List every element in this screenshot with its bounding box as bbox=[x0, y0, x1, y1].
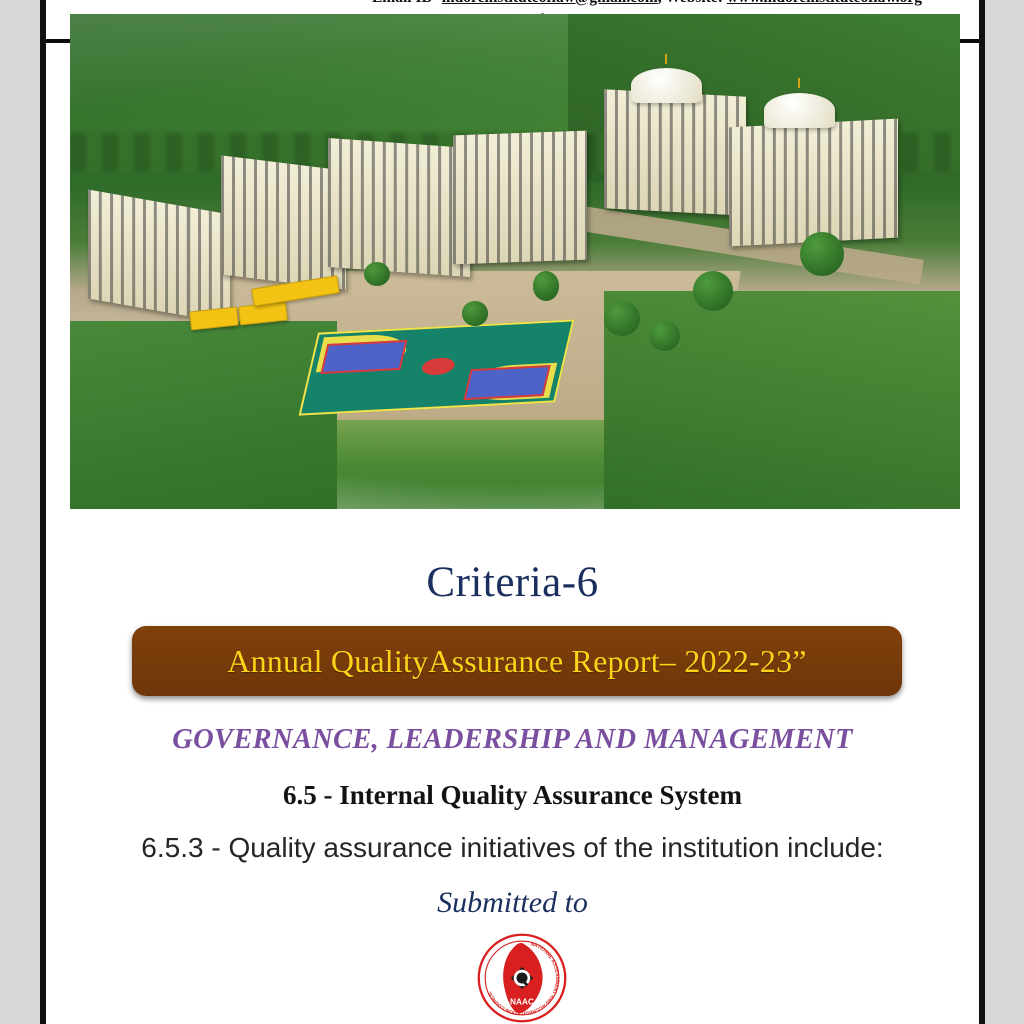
lawn-left bbox=[70, 321, 337, 509]
tree bbox=[462, 301, 489, 326]
court-paint-right bbox=[464, 365, 551, 400]
spire-right bbox=[798, 78, 800, 88]
criteria-title: Criteria-6 bbox=[46, 558, 979, 607]
governance-heading: GOVERNANCE, LEADERSHIP AND MANAGEMENT bbox=[46, 724, 979, 756]
building-domed-left bbox=[604, 89, 746, 215]
building-hostel-left bbox=[88, 190, 230, 324]
building-main-block bbox=[453, 130, 587, 263]
court-center-circle bbox=[420, 357, 457, 376]
tree bbox=[649, 321, 680, 351]
tree bbox=[693, 271, 733, 311]
naac-label: NAAC bbox=[510, 998, 534, 1007]
submitted-to-label: Submitted to bbox=[46, 886, 979, 920]
basketball-court bbox=[299, 319, 575, 415]
naac-logo-icon: NAAC NATIONAL ASSESSMENT AND ACCREDITATI… bbox=[476, 932, 568, 1024]
section-6-5-3-heading: 6.5.3 - Quality assurance initiatives of… bbox=[46, 832, 979, 864]
building-block-three bbox=[328, 138, 470, 277]
email-label: Email ID- bbox=[372, 0, 438, 6]
report-title-banner: Annual QualityAssurance Report– 2022-23” bbox=[132, 626, 902, 696]
building-domed-right bbox=[729, 118, 898, 246]
logo-emblem-icon: INDORE INSTITUTE OF LAW bbox=[66, 0, 316, 10]
email-website-line: Email ID- indoreinstituteoflaw@gmail.com… bbox=[321, 0, 973, 9]
comma-separator: , bbox=[658, 0, 662, 6]
website-value[interactable]: www.indoreinstituteoflaw.org bbox=[727, 0, 922, 6]
spire-left bbox=[665, 54, 667, 64]
photo-canvas bbox=[70, 14, 960, 509]
tree bbox=[604, 301, 640, 336]
court-paint-left bbox=[320, 339, 407, 374]
section-6-5-heading: 6.5 - Internal Quality Assurance System bbox=[46, 780, 979, 811]
dome-left bbox=[631, 68, 702, 103]
dome-right bbox=[764, 93, 835, 128]
campus-aerial-photo bbox=[70, 14, 960, 509]
email-value[interactable]: indoreinstituteoflaw@gmail.com bbox=[442, 0, 658, 6]
website-label: Website: bbox=[665, 0, 723, 6]
document-page: INDORE INSTITUTE OF LAW Email ID- indore… bbox=[40, 0, 985, 1024]
report-title-text: Annual QualityAssurance Report– 2022-23” bbox=[227, 643, 806, 680]
